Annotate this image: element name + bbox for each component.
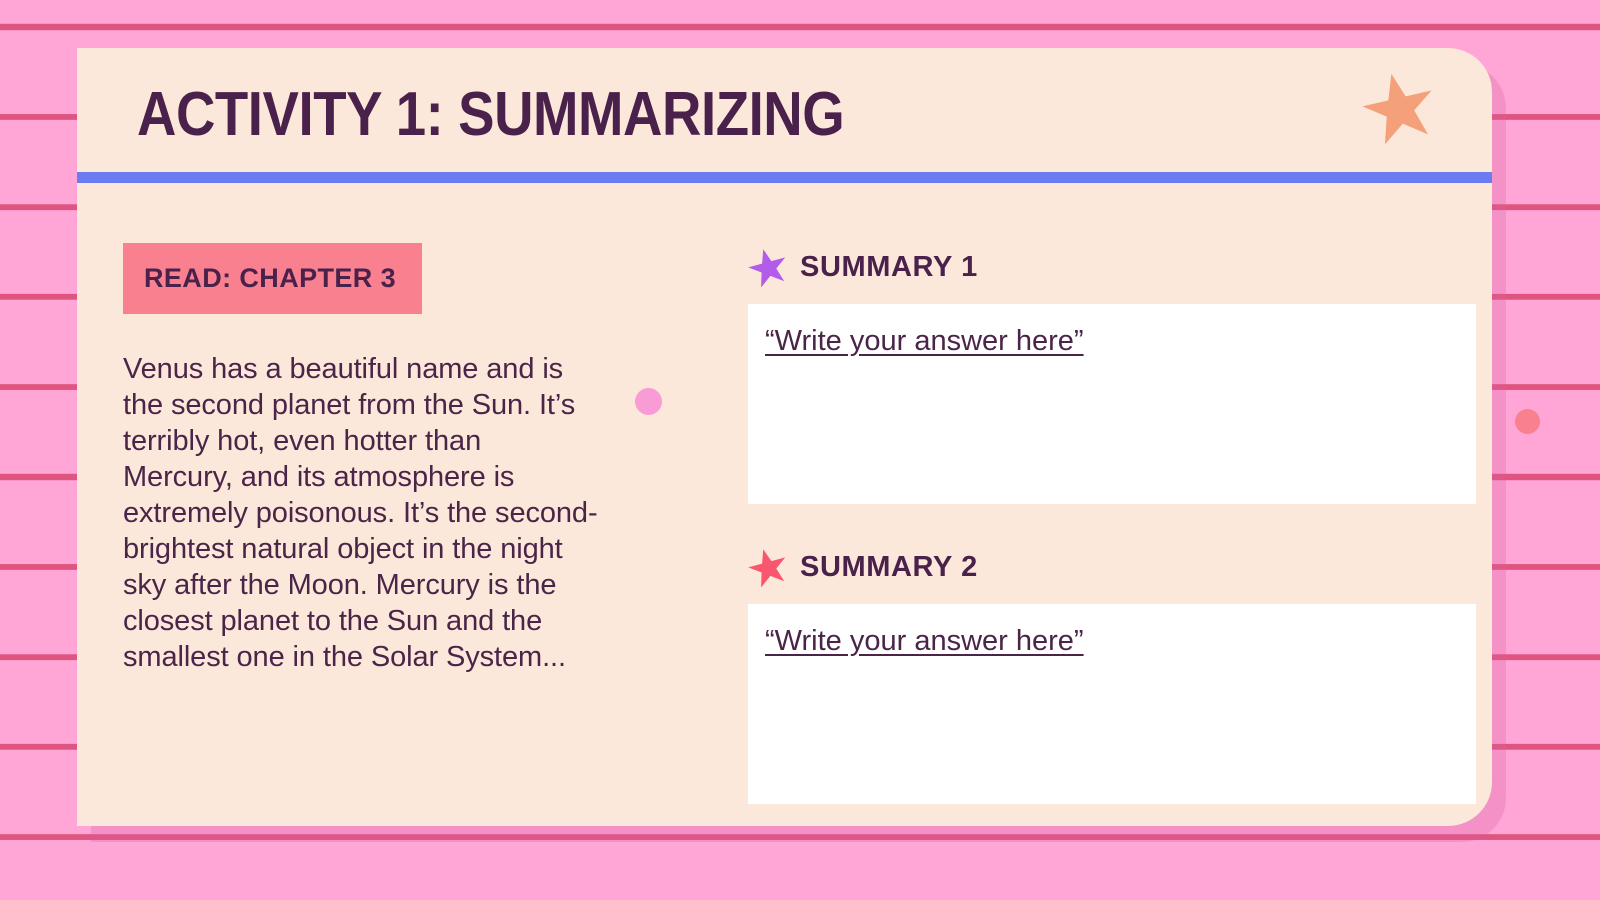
summary-2-answer-placeholder[interactable]: “Write your answer here” [765,624,1084,658]
summary-2-label: SUMMARY 2 [800,551,978,584]
passage-text: Venus has a beautiful name and is the se… [123,351,598,675]
summary-1-header: SUMMARY 1 [748,245,1478,289]
star-icon [748,547,788,587]
summaries-column: SUMMARY 1 “Write your answer here” [748,183,1478,804]
summary-1-label: SUMMARY 1 [800,251,978,284]
card-body: READ: CHAPTER 3 Venus has a beautiful na… [77,183,1492,826]
worksheet-page: ACTIVITY 1: SUMMARIZING READ: CHAPTER 3 … [0,0,1600,900]
summary-block-2: SUMMARY 2 “Write your answer here” [748,545,1478,804]
reading-column: READ: CHAPTER 3 Venus has a beautiful na… [123,183,668,675]
summary-1-answer-box[interactable]: “Write your answer here” [748,304,1476,504]
summary-block-1: SUMMARY 1 “Write your answer here” [748,245,1478,504]
header-divider [77,172,1492,183]
summary-1-answer-placeholder[interactable]: “Write your answer here” [765,324,1084,358]
activity-card: ACTIVITY 1: SUMMARIZING READ: CHAPTER 3 … [77,48,1492,826]
summary-2-answer-box[interactable]: “Write your answer here” [748,604,1476,804]
star-icon [1362,70,1436,144]
circle-decoration-pink [635,388,662,415]
read-chapter-badge: READ: CHAPTER 3 [123,243,422,314]
summary-2-header: SUMMARY 2 [748,545,1478,589]
circle-decoration-red [1515,409,1540,434]
star-icon [748,247,788,287]
page-title: ACTIVITY 1: SUMMARIZING [137,84,844,146]
card-header: ACTIVITY 1: SUMMARIZING [77,48,1492,172]
